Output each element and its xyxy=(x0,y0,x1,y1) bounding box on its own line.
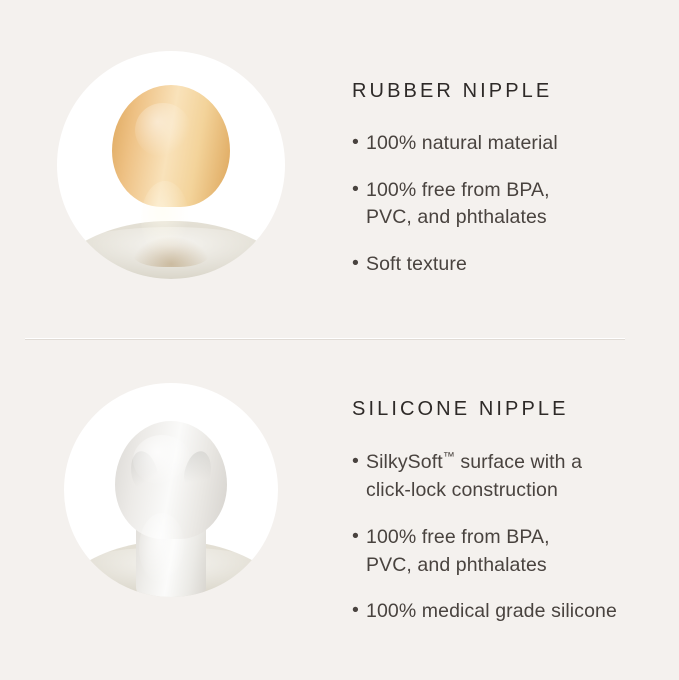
product-photo-silicone xyxy=(64,383,278,597)
list-item: Soft texture xyxy=(352,251,679,279)
heading-silicone-nipple: SILICONE NIPPLE xyxy=(352,398,679,421)
copy-silicone: SILICONE NIPPLE SilkySoft™ surface with … xyxy=(330,339,679,626)
rubber-nipple-icon xyxy=(111,85,231,265)
rubber-nipple-head xyxy=(112,85,230,207)
silicone-nipple-icon xyxy=(111,421,231,591)
bullet-line: 100% natural material xyxy=(366,132,558,154)
feature-list-silicone: SilkySoft™ surface with a click-lock con… xyxy=(352,449,679,626)
bullet-line: PVC, and phthalates xyxy=(366,554,547,576)
list-item: 100% medical grade silicone xyxy=(352,598,679,626)
media-silicone xyxy=(0,339,330,680)
bullet-line: PVC, and phthalates xyxy=(366,206,547,228)
silicone-nipple-head xyxy=(115,421,227,539)
bullet-line: 100% free from BPA, xyxy=(366,179,550,201)
media-rubber xyxy=(0,0,330,338)
trademark-symbol: ™ xyxy=(443,450,455,464)
list-item: 100% free from BPA, PVC, and phthalates xyxy=(352,524,679,579)
bullet-line: 100% medical grade silicone xyxy=(366,600,617,622)
bullet-line: SilkySoft™ surface with a xyxy=(366,451,582,473)
bullet-line: 100% free from BPA, xyxy=(366,526,550,548)
list-item: 100% natural material xyxy=(352,130,679,158)
section-rubber-nipple: RUBBER NIPPLE 100% natural material 100%… xyxy=(0,0,679,338)
product-photo-rubber xyxy=(57,51,285,279)
feature-list-rubber: 100% natural material 100% free from BPA… xyxy=(352,130,679,279)
bullet-line: Soft texture xyxy=(366,253,467,275)
section-silicone-nipple: SILICONE NIPPLE SilkySoft™ surface with … xyxy=(0,339,679,680)
heading-rubber-nipple: RUBBER NIPPLE xyxy=(352,80,679,103)
copy-rubber: RUBBER NIPPLE 100% natural material 100%… xyxy=(330,0,679,279)
product-comparison-infographic: RUBBER NIPPLE 100% natural material 100%… xyxy=(0,0,679,680)
list-item: 100% free from BPA, PVC, and phthalates xyxy=(352,177,679,232)
bullet-line: click-lock construction xyxy=(366,479,558,501)
list-item: SilkySoft™ surface with a click-lock con… xyxy=(352,449,679,505)
